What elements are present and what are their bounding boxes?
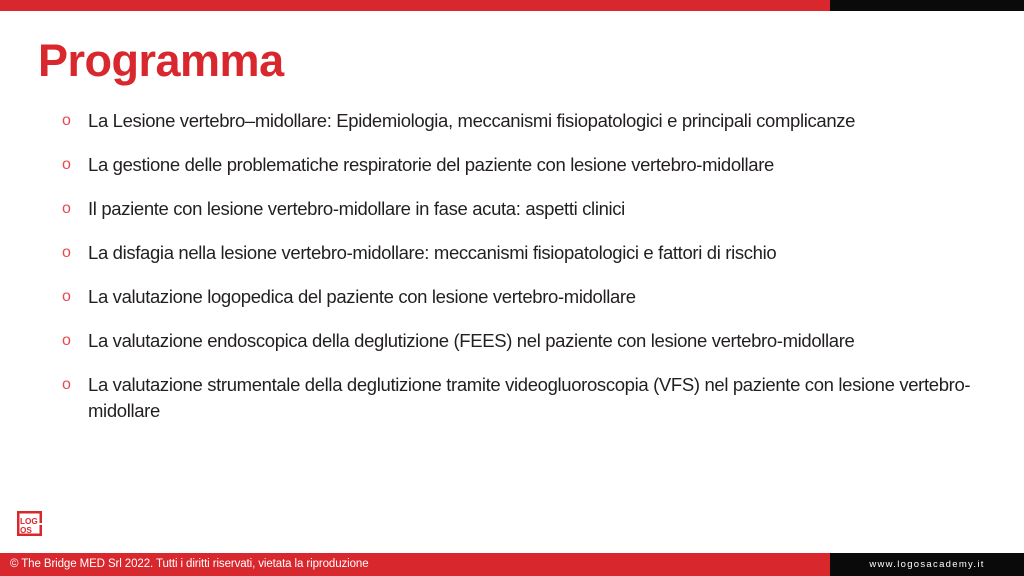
list-item: o La valutazione endoscopica della deglu… xyxy=(58,328,1006,354)
list-item: o La Lesione vertebro–midollare: Epidemi… xyxy=(58,108,1006,134)
top-accent-black xyxy=(830,0,1024,11)
footer-copyright: © The Bridge MED Srl 2022. Tutti i dirit… xyxy=(0,553,830,576)
list-item: o La valutazione logopedica del paziente… xyxy=(58,284,1006,310)
bullet-circle-icon: o xyxy=(58,152,88,178)
list-item-label: La disfagia nella lesione vertebro-midol… xyxy=(88,240,1006,266)
bullet-circle-icon: o xyxy=(58,240,88,266)
bullet-circle-icon: o xyxy=(58,196,88,222)
top-accent-bar xyxy=(0,0,1024,11)
slide-programma: Programma o La Lesione vertebro–midollar… xyxy=(0,0,1024,576)
list-item: o Il paziente con lesione vertebro-midol… xyxy=(58,196,1006,222)
logo-line-1: LOG xyxy=(20,517,38,526)
list-item-label: Il paziente con lesione vertebro-midolla… xyxy=(88,196,1006,222)
footer-website: www.logosacademy.it xyxy=(830,553,1024,576)
bullet-circle-icon: o xyxy=(58,284,88,310)
page-title: Programma xyxy=(38,37,284,84)
top-accent-red xyxy=(0,0,830,11)
list-item-label: La valutazione strumentale della degluti… xyxy=(88,372,1006,424)
list-item-label: La valutazione logopedica del paziente c… xyxy=(88,284,1006,310)
list-item-label: La valutazione endoscopica della degluti… xyxy=(88,328,1006,354)
bullet-circle-icon: o xyxy=(58,372,88,398)
programma-list: o La Lesione vertebro–midollare: Epidemi… xyxy=(58,108,1006,424)
list-item-label: La Lesione vertebro–midollare: Epidemiol… xyxy=(88,108,1006,134)
list-item: o La disfagia nella lesione vertebro-mid… xyxy=(58,240,1006,266)
logos-logo: LOG OS xyxy=(14,508,45,539)
list-item: o La gestione delle problematiche respir… xyxy=(58,152,1006,178)
list-item: o La valutazione strumentale della deglu… xyxy=(58,372,1006,424)
logo-line-2: OS xyxy=(20,526,32,535)
bullet-circle-icon: o xyxy=(58,108,88,134)
list-item-label: La gestione delle problematiche respirat… xyxy=(88,152,1006,178)
footer-bar: © The Bridge MED Srl 2022. Tutti i dirit… xyxy=(0,553,1024,576)
bullet-circle-icon: o xyxy=(58,328,88,354)
